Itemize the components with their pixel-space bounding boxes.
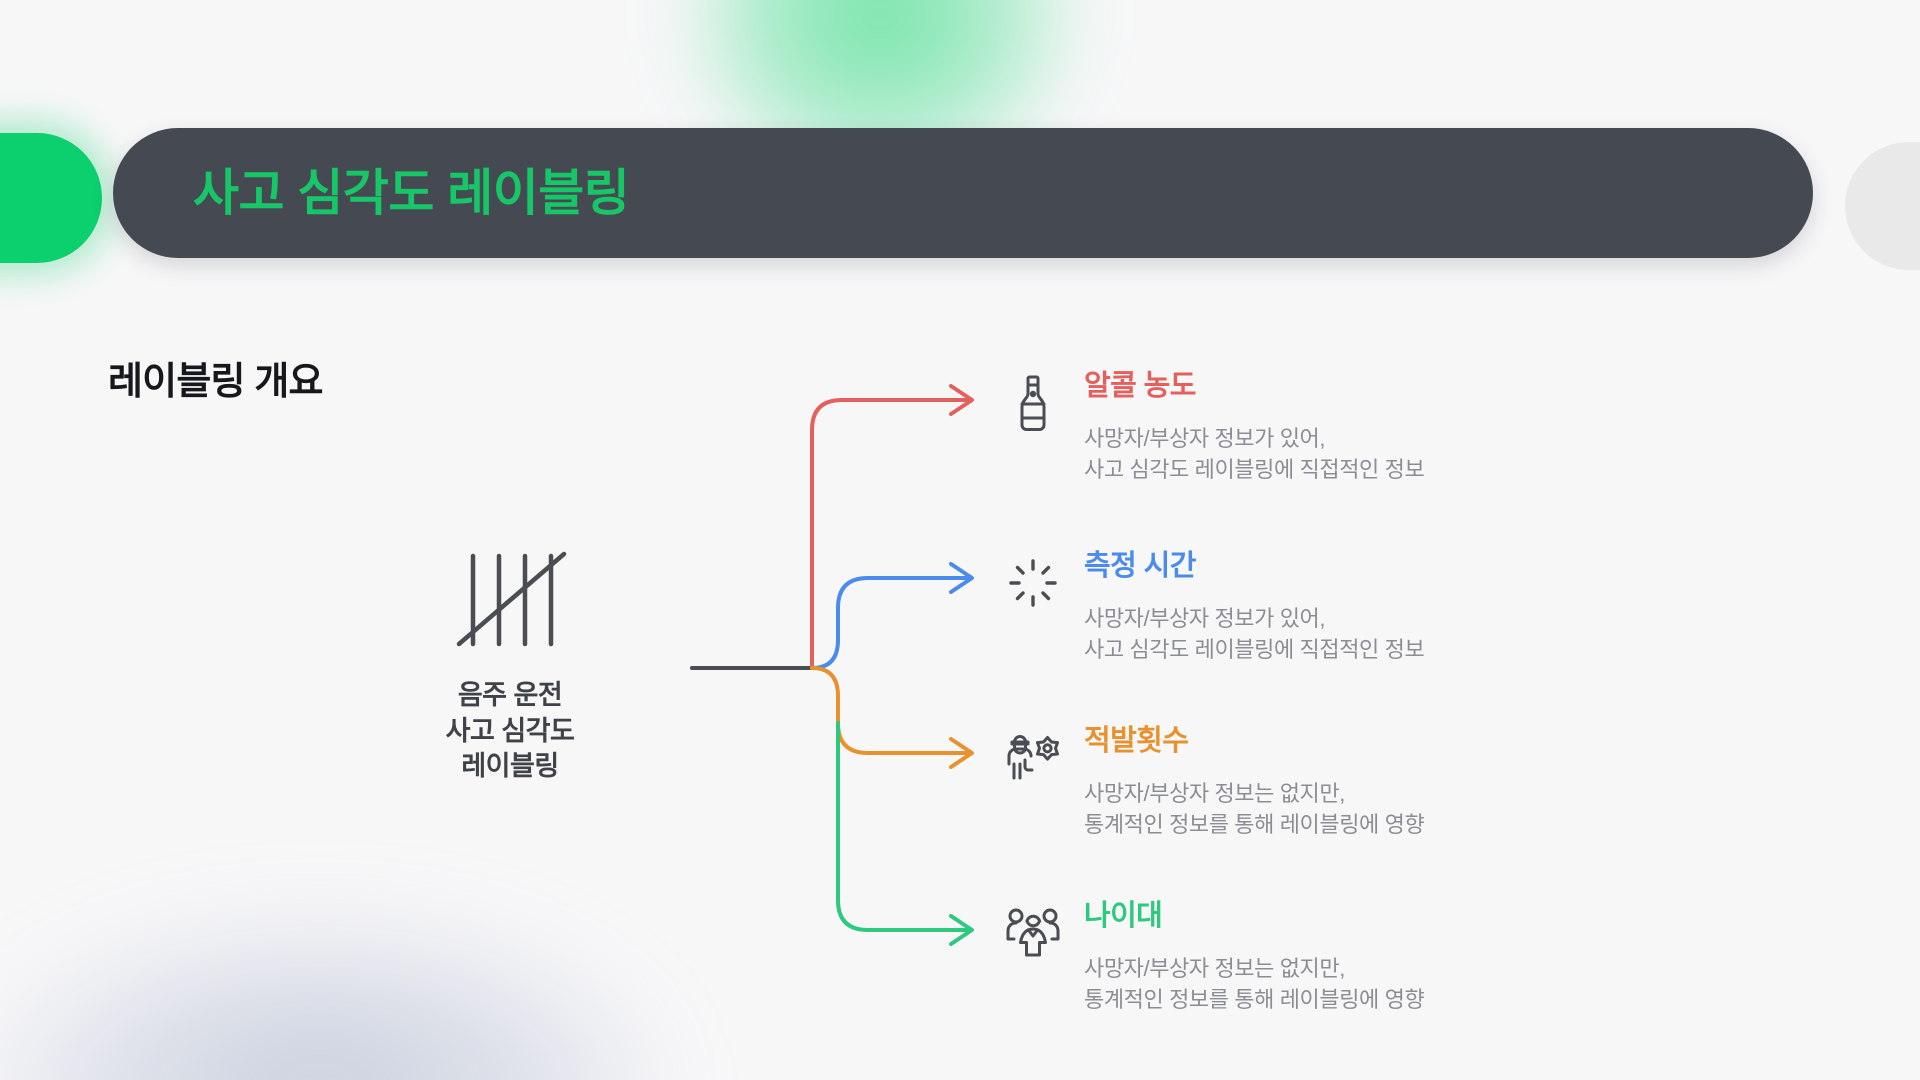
connector-branch-alcohol-concentration <box>812 400 967 668</box>
tally-mark-icon <box>451 548 569 652</box>
branch-crackdown-count[interactable]: 적발횟수 사망자/부상자 정보는 없지만, 통계적인 정보를 통해 레이블링에 … <box>1002 727 1642 840</box>
branch-measurement-time[interactable]: 측정 시간 사망자/부상자 정보가 있어, 사고 심각도 레이블링에 직접적인 … <box>1002 552 1642 665</box>
branch-title: 측정 시간 <box>1084 552 1642 581</box>
branch-description: 사망자/부상자 정보는 없지만, 통계적인 정보를 통해 레이블링에 영향 <box>1084 778 1642 840</box>
branch-title: 적발횟수 <box>1084 727 1642 756</box>
arrowhead-crackdown-count <box>951 739 972 767</box>
arrowhead-alcohol-concentration <box>951 386 972 414</box>
champagne-bottle-icon <box>1002 372 1064 434</box>
diagram-root-node: 음주 운전 사고 심각도 레이블링 <box>380 548 640 785</box>
branch-age-group[interactable]: 나이대 사망자/부상자 정보는 없지만, 통계적인 정보를 통해 레이블링에 영… <box>1002 902 1642 1015</box>
labeling-overview-diagram: 음주 운전 사고 심각도 레이블링 .conn { fill:none; str… <box>0 0 1920 1080</box>
branch-body: 나이대 사망자/부상자 정보는 없지만, 통계적인 정보를 통해 레이블링에 영… <box>1084 902 1642 1015</box>
connector-branch-age-group <box>838 723 967 930</box>
branch-title: 알콜 농도 <box>1084 372 1642 401</box>
radial-burst-icon <box>1002 552 1064 614</box>
branch-body: 알콜 농도 사망자/부상자 정보가 있어, 사고 심각도 레이블링에 직접적인 … <box>1084 372 1642 485</box>
branch-body: 측정 시간 사망자/부상자 정보가 있어, 사고 심각도 레이블링에 직접적인 … <box>1084 552 1642 665</box>
branch-description: 사망자/부상자 정보는 없지만, 통계적인 정보를 통해 레이블링에 영향 <box>1084 953 1642 1015</box>
police-officer-badge-icon <box>1002 727 1064 789</box>
connector-branch-crackdown-count <box>812 668 967 753</box>
branch-title: 나이대 <box>1084 902 1642 931</box>
connector-branch-measurement-time <box>812 578 967 668</box>
branch-description: 사망자/부상자 정보가 있어, 사고 심각도 레이블링에 직접적인 정보 <box>1084 423 1642 485</box>
diagram-root-label: 음주 운전 사고 심각도 레이블링 <box>380 678 640 785</box>
branch-body: 적발횟수 사망자/부상자 정보는 없지만, 통계적인 정보를 통해 레이블링에 … <box>1084 727 1642 840</box>
arrowhead-measurement-time <box>951 564 972 592</box>
branch-description: 사망자/부상자 정보가 있어, 사고 심각도 레이블링에 직접적인 정보 <box>1084 603 1642 665</box>
branch-alcohol-concentration[interactable]: 알콜 농도 사망자/부상자 정보가 있어, 사고 심각도 레이블링에 직접적인 … <box>1002 372 1642 485</box>
arrowhead-age-group <box>951 916 972 944</box>
people-group-icon <box>1002 902 1064 964</box>
